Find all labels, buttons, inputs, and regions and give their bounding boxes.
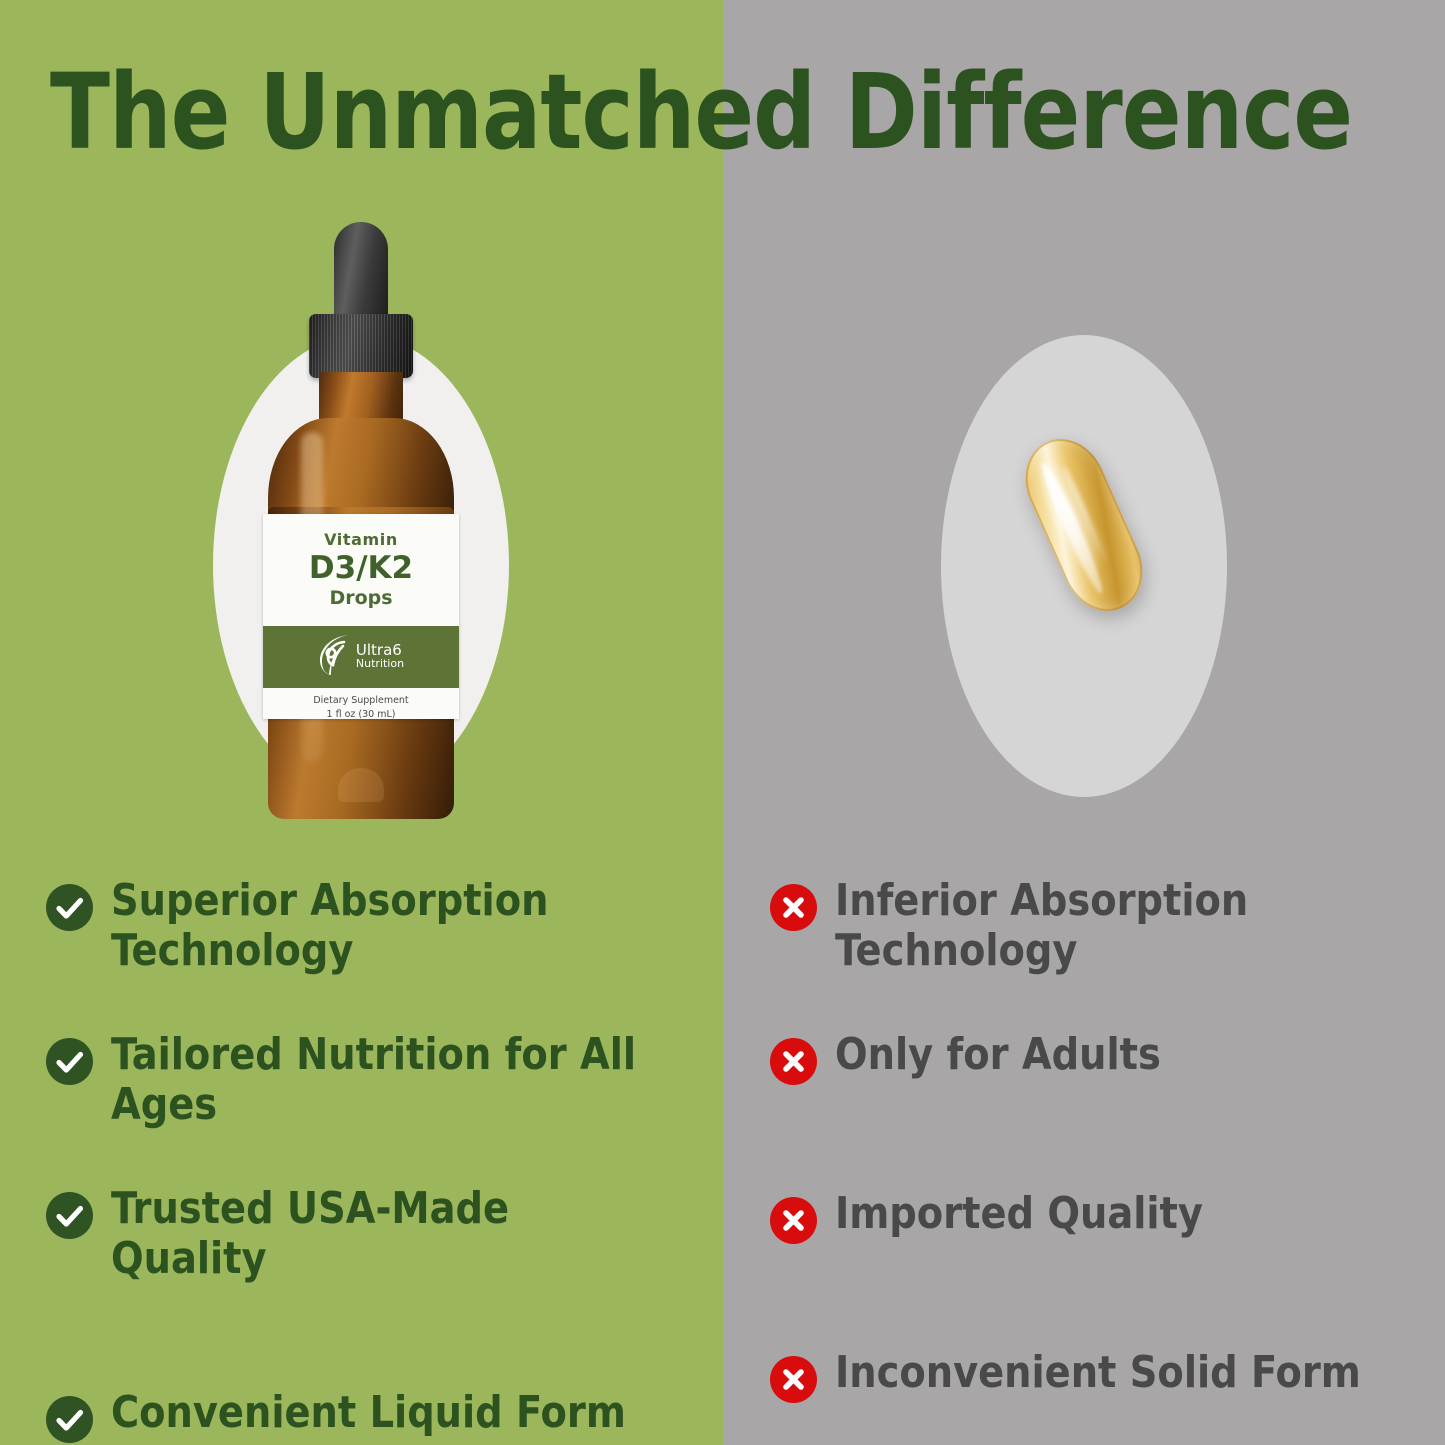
list-item: Only for Adults [770, 1030, 1390, 1085]
label-brand-band: Ultra6 Nutrition [263, 626, 459, 688]
comparison-infographic: The Unmatched Difference Vitamin D3/K2 D… [0, 0, 1445, 1445]
label-title-block: Vitamin D3/K2 Drops [263, 514, 459, 609]
label-vitamin-text: Vitamin [263, 530, 459, 549]
list-item: Tailored Nutrition for All Ages [46, 1030, 686, 1130]
label-drops-text: Drops [263, 587, 459, 609]
brand-subtitle: Nutrition [356, 657, 404, 671]
left-product-stage: Vitamin D3/K2 Drops [0, 190, 722, 850]
list-item-label: Convenient Liquid Form [111, 1388, 626, 1438]
list-item-label: Superior Absorption Technology [111, 876, 669, 976]
bottle-label: Vitamin D3/K2 Drops [263, 514, 459, 719]
list-item: Superior Absorption Technology [46, 876, 686, 976]
right-product-stage [722, 190, 1445, 850]
brand-text-block: Ultra6 Nutrition [356, 643, 404, 671]
bottle-punt [338, 768, 384, 802]
cross-circle-icon [770, 1356, 817, 1403]
cross-circle-icon [770, 1197, 817, 1244]
list-item-label: Imported Quality [835, 1189, 1203, 1239]
label-supplement-text: Dietary Supplement [263, 694, 459, 708]
list-item-label: Only for Adults [835, 1030, 1161, 1080]
cross-circle-icon [770, 884, 817, 931]
label-size-text: 1 fl oz (30 mL) [263, 708, 459, 719]
page-title: The Unmatched Difference [50, 56, 1328, 168]
list-item: Imported Quality [770, 1189, 1390, 1244]
brand-name: Ultra6 [356, 643, 404, 657]
cross-circle-icon [770, 1038, 817, 1085]
dropper-bulb [334, 222, 388, 322]
list-item: Convenient Liquid Form [46, 1388, 686, 1443]
check-circle-icon [46, 1192, 93, 1239]
list-item: Inferior Absorption Technology [770, 876, 1390, 976]
check-circle-icon [46, 1038, 93, 1085]
check-circle-icon [46, 1396, 93, 1443]
check-circle-icon [46, 884, 93, 931]
label-d3k2-text: D3/K2 [263, 550, 459, 586]
list-item: Inconvenient Solid Form [770, 1348, 1390, 1403]
dropper-bottle-image: Vitamin D3/K2 Drops [246, 222, 476, 824]
list-item-label: Trusted USA-Made Quality [111, 1184, 669, 1284]
cons-list: Inferior Absorption Technology Only for … [770, 876, 1390, 1403]
leaf-icon [318, 633, 352, 682]
list-item: Trusted USA-Made Quality [46, 1184, 686, 1284]
dropper-cap-collar [309, 314, 413, 378]
list-item-label: Tailored Nutrition for All Ages [111, 1030, 669, 1130]
list-item-label: Inferior Absorption Technology [835, 876, 1373, 976]
label-footer-block: Dietary Supplement 1 fl oz (30 mL) [263, 694, 459, 719]
list-item-label: Inconvenient Solid Form [835, 1348, 1361, 1398]
brand-lockup: Ultra6 Nutrition [318, 633, 404, 682]
pros-list: Superior Absorption Technology Tailored … [46, 876, 686, 1443]
